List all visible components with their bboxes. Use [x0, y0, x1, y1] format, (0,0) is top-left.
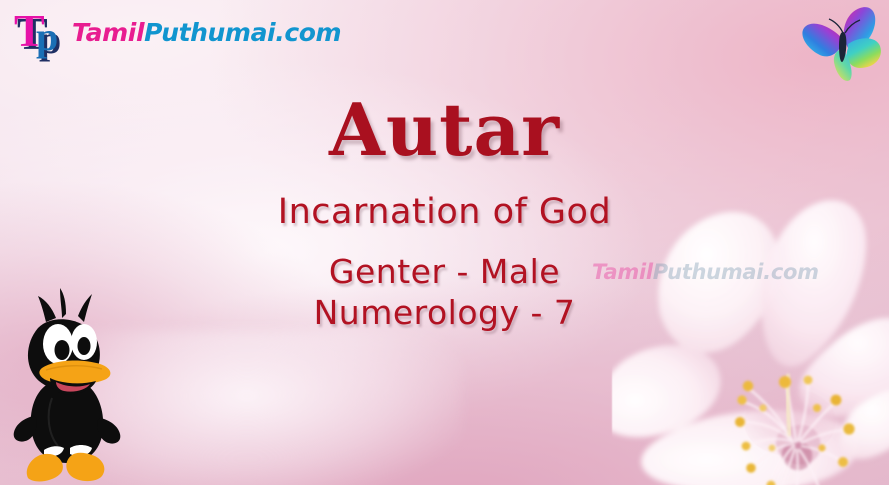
butterfly-image	[800, 4, 884, 82]
watermark: TamilPuthumai.com	[592, 260, 819, 284]
site-logo[interactable]: T p TamilPuthumai.com	[14, 6, 341, 58]
logo-monogram-icon: T p	[14, 9, 66, 55]
logo-monogram-p: p	[36, 17, 58, 57]
name-numerology: Numerology - 7	[0, 294, 889, 332]
logo-wordmark-part1: Tamil	[72, 18, 144, 47]
name-meaning-banner: T p TamilPuthumai.com Autar Incarnation …	[0, 0, 889, 485]
cherry-blossom-image	[612, 196, 889, 485]
logo-wordmark-part2: Puthumai.com	[144, 18, 341, 47]
name-meaning: Incarnation of God	[0, 192, 889, 232]
logo-wordmark: TamilPuthumai.com	[72, 18, 341, 47]
watermark-part1: Tamil	[592, 260, 653, 284]
name-title: Autar	[0, 92, 889, 168]
watermark-part2: Puthumai.com	[653, 260, 819, 284]
